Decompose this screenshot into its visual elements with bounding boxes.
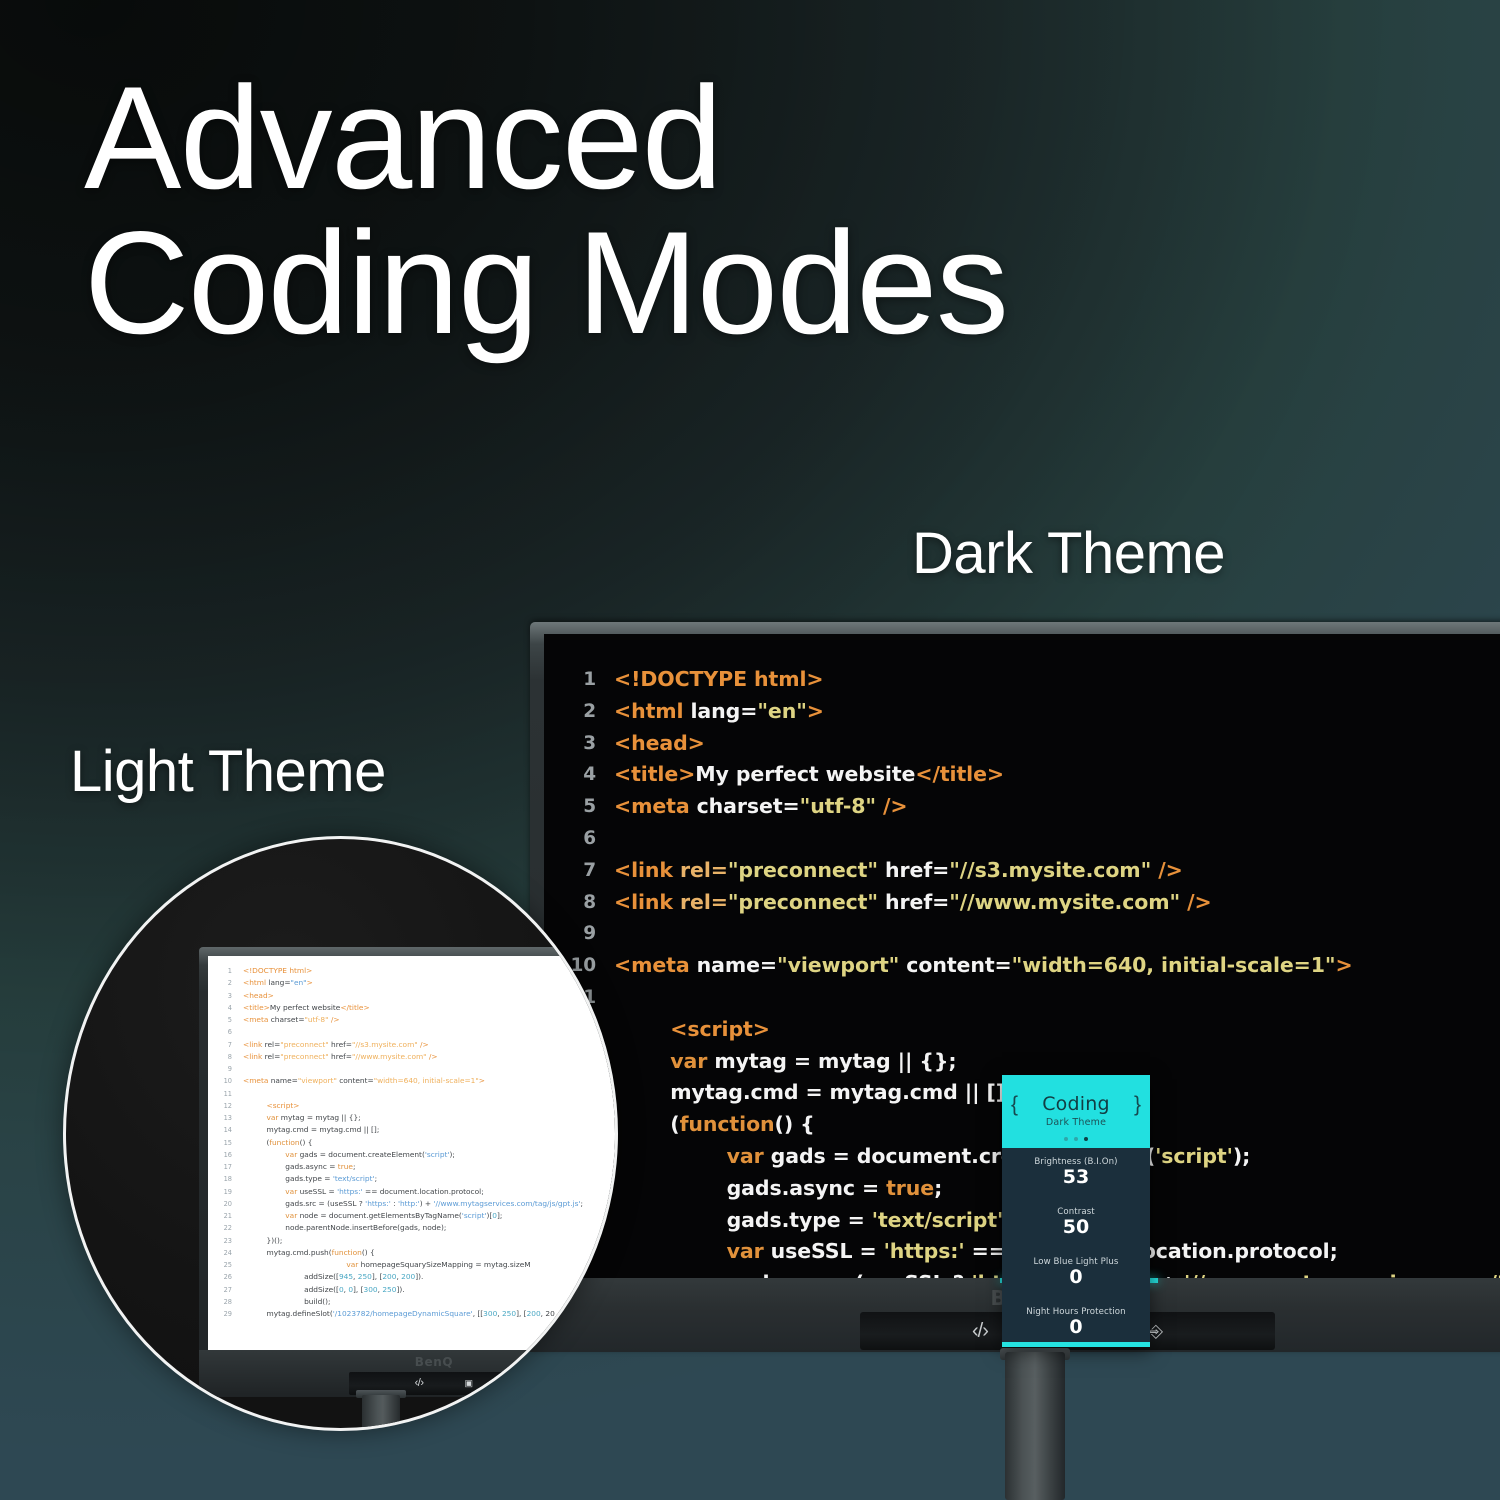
code-token <box>243 1260 346 1269</box>
code-token: </title> <box>915 762 1004 786</box>
code-token: ], [ <box>372 1272 382 1281</box>
code-token: My perfect website <box>695 762 915 786</box>
code-token: function <box>332 1248 362 1257</box>
code-token: var <box>727 1144 771 1168</box>
code-token: /> <box>328 1015 339 1024</box>
code-line: 12 <script> <box>544 1014 1500 1046</box>
line-number: 26 <box>208 1271 232 1283</box>
line-number: 3 <box>544 728 596 760</box>
line-number: 7 <box>544 855 596 887</box>
light-theme-magnifier: 1<!DOCTYPE html>2<html lang="en">3<head>… <box>63 836 618 1431</box>
code-line: 22 node.parentNode.insertBefore(gads, no… <box>208 1222 583 1234</box>
code-token: 200 <box>527 1309 541 1318</box>
line-number: 8 <box>544 887 596 919</box>
code-token: mytag = mytag || {}; <box>714 1049 956 1073</box>
code-token: "preconnect" <box>728 890 878 914</box>
code-token: ( <box>614 1112 680 1136</box>
code-token: '//www.mytagservices.com/tag/js/gpt.js' <box>1184 1271 1500 1278</box>
code-token: <meta <box>243 1076 271 1085</box>
code-token: "en" <box>291 978 307 987</box>
line-number: 27 <box>208 1284 232 1296</box>
code-token: () { <box>362 1248 375 1257</box>
code-token: ) + <box>420 1199 434 1208</box>
code-token: useSSL = <box>300 1187 337 1196</box>
osd-setting-row[interactable]: Night Hours Protection 0 <box>1008 1307 1144 1338</box>
code-token: /> <box>1180 890 1212 914</box>
code-token: var <box>346 1260 360 1269</box>
code-token: gads.type = <box>243 1174 333 1183</box>
code-token: var <box>267 1113 281 1122</box>
code-token: mytag.cmd = mytag.cmd || []; <box>614 1080 1013 1104</box>
code-line: 26 addSize([945, 250], [200, 200]). <box>208 1271 583 1283</box>
code-line: 10<meta name="viewport" content="width=6… <box>208 1075 583 1087</box>
osd-title: Coding <box>1042 1095 1110 1115</box>
code-token: href= <box>878 890 949 914</box>
line-number: 11 <box>208 1088 232 1100</box>
code-token <box>614 1049 670 1073</box>
code-token: /> <box>427 1052 438 1061</box>
code-line: 4<title>My perfect website</title> <box>544 759 1500 791</box>
line-number: 1 <box>544 664 596 696</box>
code-token: ; <box>581 1199 584 1208</box>
code-token: ); <box>450 1150 455 1159</box>
code-token: "//s3.mysite.com" <box>949 858 1151 882</box>
code-token: "preconnect" <box>280 1052 328 1061</box>
code-line: 4<title>My perfect website</title> <box>208 1002 583 1014</box>
code-token: "//www.mysite.com" <box>352 1052 427 1061</box>
code-token: '//www.mytagservices.com/tag/js/gpt.js' <box>433 1199 580 1208</box>
code-token: 300 <box>483 1309 497 1318</box>
code-line: 29 mytag.defineSlot('/1023782/homepageDy… <box>208 1308 583 1320</box>
code-token: <script> <box>670 1017 770 1041</box>
code-token: "preconnect" <box>280 1040 328 1049</box>
code-token: <meta <box>243 1015 271 1024</box>
line-number: 8 <box>208 1051 232 1063</box>
line-number: 29 <box>208 1308 232 1320</box>
code-line: 12 <script> <box>208 1100 583 1112</box>
pager-dot[interactable] <box>1074 1137 1078 1141</box>
code-token: "width=640, initial-scale=1" <box>374 1076 479 1085</box>
code-token: addSize([ <box>243 1285 339 1294</box>
code-token: charset= <box>271 1015 305 1024</box>
code-token: > <box>307 978 313 987</box>
osd-footer-accent <box>1002 1342 1150 1347</box>
code-token: gads.async = <box>243 1162 338 1171</box>
code-token <box>243 1101 267 1110</box>
code-line: 23 })(); <box>208 1235 583 1247</box>
code-line: 5<meta charset="utf-8" /> <box>208 1014 583 1026</box>
menu-key-icon[interactable]: ⎆ <box>514 1379 521 1388</box>
code-line: 8<link rel="preconnect" href="//www.mysi… <box>208 1051 583 1063</box>
code-token: () { <box>775 1112 815 1136</box>
power-icon[interactable]: ⏻ <box>490 1379 497 1388</box>
code-line: 11 <box>544 982 1500 1014</box>
page-title-line-1: Advanced <box>84 56 721 219</box>
code-token: ); <box>1233 1144 1250 1168</box>
code-line: 3<head> <box>208 990 583 1002</box>
code-token: gads.src = (useSSL ? <box>614 1271 971 1278</box>
code-token: </title> <box>340 1003 369 1012</box>
code-token: <head> <box>614 731 705 755</box>
code-token: , 20 <box>541 1309 555 1318</box>
code-token: 'script' <box>462 1211 487 1220</box>
code-token: rel= <box>680 890 728 914</box>
code-line: 7<link rel="preconnect" href="//s3.mysit… <box>544 855 1500 887</box>
code-brackets-icon[interactable]: ‹/› <box>415 1378 424 1389</box>
code-token: href= <box>329 1040 352 1049</box>
line-number: 4 <box>208 1002 232 1014</box>
line-number: 18 <box>208 1173 232 1185</box>
brace-left-icon: { <box>1011 1093 1018 1117</box>
code-token: lang= <box>268 978 290 987</box>
code-line: 20 gads.src = (useSSL ? 'https:' : 'http… <box>208 1198 583 1210</box>
line-number: 23 <box>208 1235 232 1247</box>
line-number: 15 <box>208 1137 232 1149</box>
code-token: gads = document.createElement( <box>300 1150 425 1159</box>
line-number: 19 <box>208 1186 232 1198</box>
line-number: 2 <box>208 977 232 989</box>
code-line: 6 <box>544 823 1500 855</box>
code-line: 10<meta name="viewport" content="width=6… <box>544 950 1500 982</box>
code-line: 1<!DOCTYPE html> <box>544 664 1500 696</box>
code-token: <link <box>243 1052 265 1061</box>
code-token: ]). <box>415 1272 423 1281</box>
line-number: 10 <box>208 1075 232 1087</box>
brace-right-icon: } <box>1134 1093 1141 1117</box>
code-token: <title> <box>243 1003 270 1012</box>
code-line: 14 mytag.cmd = mytag.cmd || []; <box>208 1124 583 1136</box>
code-token: useSSL = <box>771 1239 884 1263</box>
code-token: /> <box>418 1040 429 1049</box>
code-token: : <box>391 1199 398 1208</box>
code-line: 16 var gads = document.createElement('sc… <box>208 1149 583 1161</box>
line-number: 14 <box>208 1124 232 1136</box>
line-number: 17 <box>208 1161 232 1173</box>
code-token: <link <box>243 1040 265 1049</box>
code-token <box>614 1144 727 1168</box>
code-token: node = document.getElementsByTagName( <box>300 1211 462 1220</box>
code-line: 3<head> <box>544 728 1500 760</box>
code-token: 250 <box>502 1309 516 1318</box>
input-source-icon[interactable]: ▣ <box>465 1379 474 1388</box>
code-line: 25 var homepageSquarySizeMapping = mytag… <box>208 1259 583 1271</box>
code-token: ( <box>243 1138 269 1147</box>
code-token: gads.src = (useSSL ? <box>243 1199 365 1208</box>
code-token: ]). <box>396 1285 404 1294</box>
code-token: <html <box>614 699 691 723</box>
code-token: <title> <box>614 762 695 786</box>
code-token: true <box>338 1162 353 1171</box>
monitor-stand-neck <box>362 1395 400 1431</box>
light-theme-label: Light Theme <box>70 738 386 805</box>
code-token: charset= <box>697 794 800 818</box>
code-line: 9 <box>544 918 1500 950</box>
code-token: '/1023782/homepageDynamicSquare' <box>333 1309 473 1318</box>
light-theme-screen: 1<!DOCTYPE html>2<html lang="en">3<head>… <box>208 956 618 1350</box>
line-number: 5 <box>208 1014 232 1026</box>
code-token: "//s3.mysite.com" <box>352 1040 418 1049</box>
osd-setting-row[interactable]: Brightness (B.I.On) 53 <box>1008 1157 1144 1188</box>
code-token: == document.location.protocol; <box>363 1187 484 1196</box>
code-token: true <box>886 1176 934 1200</box>
code-token: mytag = mytag || {}; <box>281 1113 361 1122</box>
code-token: 250 <box>358 1272 372 1281</box>
code-token: gads.async = <box>614 1176 886 1200</box>
code-line: 5<meta charset="utf-8" /> <box>544 791 1500 823</box>
code-token: "//www.mysite.com" <box>949 890 1180 914</box>
code-line: 24 mytag.cmd.push(function() { <box>208 1247 583 1259</box>
code-line: 1<!DOCTYPE html> <box>208 965 583 977</box>
code-token: > <box>807 699 824 723</box>
light-theme-monitor: 1<!DOCTYPE html>2<html lang="en">3<head>… <box>199 947 618 1397</box>
code-token: <!DOCTYPE html> <box>614 667 823 691</box>
osd-pager-dots[interactable] <box>1064 1137 1088 1141</box>
code-token: var <box>285 1187 299 1196</box>
code-token <box>243 1150 285 1159</box>
line-number: 20 <box>208 1198 232 1210</box>
code-token: <html <box>243 978 268 987</box>
code-line: 2<html lang="en"> <box>208 977 583 989</box>
osd-header: { } Coding Dark Theme <box>1002 1075 1150 1148</box>
code-token: () { <box>300 1138 313 1147</box>
code-token: "viewport" <box>298 1076 337 1085</box>
code-token: rel= <box>680 858 728 882</box>
monitor-chin: BenQ ‹/› ▣ ⏻ ⎆ <box>199 1350 618 1397</box>
line-number: 21 <box>208 1210 232 1222</box>
monitor-stand-neck <box>1005 1352 1065 1500</box>
code-token: 'script' <box>1155 1144 1233 1168</box>
code-line: 11 <box>208 1088 583 1100</box>
code-token: mytag.cmd.push( <box>243 1248 332 1257</box>
osd-settings-list: Brightness (B.I.On) 53 Contrast 50 Low B… <box>1002 1148 1150 1342</box>
line-number: 2 <box>544 696 596 728</box>
line-number: 3 <box>208 990 232 1002</box>
code-token: 'https:' <box>884 1239 965 1263</box>
code-token <box>614 1239 727 1263</box>
line-number: 16 <box>208 1149 232 1161</box>
code-token: "utf-8" <box>800 794 876 818</box>
code-line: 7<link rel="preconnect" href="//s3.mysit… <box>208 1039 583 1051</box>
code-token: name= <box>697 953 777 977</box>
code-token: 300 <box>364 1285 378 1294</box>
code-token: homepageSquarySizeMapping = mytag.sizeM <box>361 1260 531 1269</box>
line-number: 28 <box>208 1296 232 1308</box>
dark-theme-label: Dark Theme <box>912 520 1225 587</box>
code-line: 13 var mytag = mytag || {}; <box>208 1112 583 1124</box>
code-token: <script> <box>267 1101 300 1110</box>
code-token: function <box>269 1138 299 1147</box>
code-token: > <box>1336 953 1353 977</box>
line-number: 1 <box>208 965 232 977</box>
code-editor-light: 1<!DOCTYPE html>2<html lang="en">3<head>… <box>208 956 583 1320</box>
code-token: var <box>285 1211 299 1220</box>
code-line: 21 var node = document.getElementsByTagN… <box>208 1210 583 1222</box>
code-token: mytag.cmd = mytag.cmd || []; <box>243 1125 379 1134</box>
code-token: 'https:' <box>337 1187 363 1196</box>
code-token: addSize([ <box>243 1272 339 1281</box>
code-token: href= <box>329 1052 352 1061</box>
code-line: 13 var mytag = mytag || {}; <box>544 1046 1500 1078</box>
code-token: "width=640, initial-scale=1" <box>1012 953 1336 977</box>
code-token: <head> <box>243 991 274 1000</box>
code-token: "viewport" <box>777 953 899 977</box>
code-token: mytag.defineSlot( <box>243 1309 333 1318</box>
code-token: lang= <box>691 699 758 723</box>
line-number: 6 <box>208 1026 232 1038</box>
benq-logo: BenQ <box>415 1355 453 1369</box>
line-number: 13 <box>208 1112 232 1124</box>
line-number: 6 <box>544 823 596 855</box>
code-token: 200 <box>401 1272 415 1281</box>
code-token: 'script' <box>425 1150 450 1159</box>
code-token: gads.type = <box>614 1208 872 1232</box>
code-brackets-icon[interactable]: ‹/› <box>972 1321 988 1341</box>
code-token: "utf-8" <box>305 1015 329 1024</box>
code-token <box>243 1187 285 1196</box>
page-title: Advanced Coding Modes <box>84 66 1007 355</box>
code-line: 18 gads.type = 'text/script'; <box>208 1173 583 1185</box>
code-line: 27 addSize([0, 0], [300, 250]). <box>208 1284 583 1296</box>
osd-setting-value: 50 <box>1008 1216 1144 1238</box>
osd-subtitle: Dark Theme <box>1046 1117 1106 1128</box>
line-number: 4 <box>544 759 596 791</box>
code-token: 945 <box>339 1272 353 1281</box>
code-token: content= <box>899 953 1011 977</box>
code-token: <link <box>614 858 680 882</box>
code-token: rel= <box>265 1040 281 1049</box>
pager-dot[interactable] <box>1064 1137 1068 1141</box>
osd-setting-value: 0 <box>1008 1316 1144 1338</box>
code-token: var <box>727 1239 771 1263</box>
menu-key-icon[interactable]: ⎆ <box>1149 1323 1163 1340</box>
code-token: <meta <box>614 794 697 818</box>
code-token: node.parentNode.insertBefore(gads, node)… <box>243 1223 446 1232</box>
code-token: 'text/script' <box>872 1208 1003 1232</box>
osd-setting-row[interactable]: Low Blue Light Plus 0 <box>1008 1257 1144 1288</box>
code-token: href= <box>878 858 949 882</box>
code-token: var <box>670 1049 714 1073</box>
code-token: /> <box>876 794 908 818</box>
code-token: content= <box>337 1076 374 1085</box>
code-token: 'http:' <box>398 1199 420 1208</box>
page-title-line-2: Coding Modes <box>84 211 1007 356</box>
line-number: 24 <box>208 1247 232 1259</box>
code-line: 15 (function() { <box>208 1137 583 1149</box>
line-number: 5 <box>544 791 596 823</box>
osd-coding-mode-panel[interactable]: { } Coding Dark Theme Brightness (B.I.On… <box>1002 1075 1150 1347</box>
code-token: > <box>479 1076 485 1085</box>
code-token: 'https:' <box>365 1199 391 1208</box>
code-line: 2<html lang="en"> <box>544 696 1500 728</box>
code-line: 19 var useSSL = 'https:' == document.loc… <box>208 1186 583 1198</box>
code-token: 250 <box>382 1285 396 1294</box>
osd-setting-value: 0 <box>1008 1266 1144 1288</box>
code-token: build(); <box>243 1297 331 1306</box>
code-token: ], [ <box>353 1285 363 1294</box>
code-line: 28 build(); <box>208 1296 583 1308</box>
code-token: , [[ <box>473 1309 483 1318</box>
code-line: 8<link rel="preconnect" href="//www.mysi… <box>544 887 1500 919</box>
code-token: rel= <box>265 1052 281 1061</box>
code-token: <!DOCTYPE html> <box>243 966 312 975</box>
code-token: /> <box>1151 858 1183 882</box>
code-line: 9 <box>208 1063 583 1075</box>
code-token: <meta <box>614 953 697 977</box>
code-token: ], [ <box>516 1309 526 1318</box>
code-token: ; <box>375 1174 378 1183</box>
code-token: ]; <box>497 1211 502 1220</box>
code-token <box>243 1211 285 1220</box>
code-token: ; <box>353 1162 356 1171</box>
line-number: 12 <box>208 1100 232 1112</box>
code-token: 200 <box>382 1272 396 1281</box>
code-token: })(); <box>243 1236 282 1245</box>
line-number: 25 <box>208 1259 232 1271</box>
code-token: ; <box>934 1176 942 1200</box>
code-token <box>243 1113 267 1122</box>
pager-dot-active[interactable] <box>1084 1137 1088 1141</box>
code-token: function <box>680 1112 775 1136</box>
osd-setting-row[interactable]: Contrast 50 <box>1008 1207 1144 1238</box>
line-number: 7 <box>208 1039 232 1051</box>
osd-setting-value: 53 <box>1008 1166 1144 1188</box>
code-token: "en" <box>757 699 806 723</box>
poster-canvas: Advanced Coding Modes Dark Theme Light T… <box>0 0 1500 1500</box>
code-token <box>614 1017 670 1041</box>
code-line: 6 <box>208 1026 583 1038</box>
code-token: 'text/script' <box>333 1174 375 1183</box>
code-token: <link <box>614 890 680 914</box>
code-line: 17 gads.async = true; <box>208 1161 583 1173</box>
code-token: var <box>285 1150 299 1159</box>
code-token: "preconnect" <box>728 858 878 882</box>
line-number: 22 <box>208 1222 232 1234</box>
line-number: 9 <box>208 1063 232 1075</box>
code-token: My perfect website <box>270 1003 340 1012</box>
code-token: name= <box>271 1076 298 1085</box>
